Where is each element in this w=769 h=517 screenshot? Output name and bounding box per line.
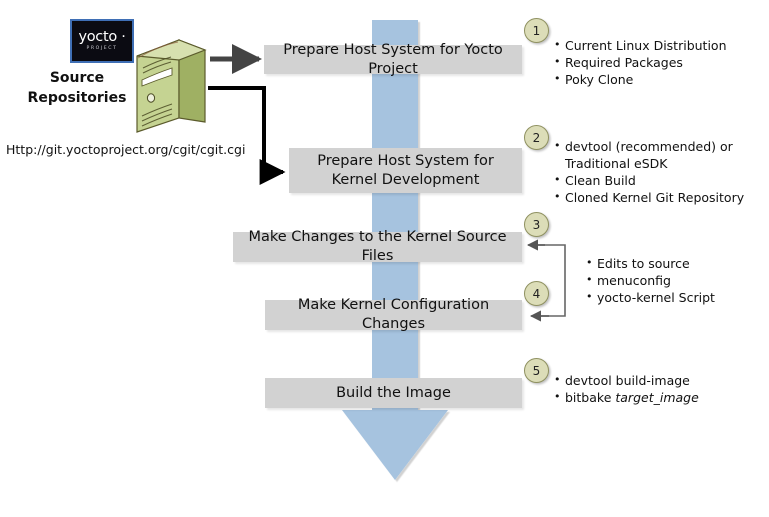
step-box-build-the-image[interactable]: Build the Image bbox=[265, 378, 522, 408]
bullet-item: devtool (recommended) or bbox=[553, 138, 763, 155]
source-repositories-label: Source Repositories bbox=[16, 68, 138, 108]
step-box-make-kernel-config-changes[interactable]: Make Kernel Configuration Changes bbox=[265, 300, 522, 330]
steps-3-4-bullet-list: Edits to source menuconfig yocto-kernel … bbox=[585, 255, 765, 306]
step-badge-3: 3 bbox=[524, 212, 549, 237]
step-badge-5: 5 bbox=[524, 358, 549, 383]
step-badge-2: 2 bbox=[524, 125, 549, 150]
diagram-canvas: yocto · PROJECT Source Repositories Http… bbox=[0, 0, 769, 517]
source-repositories-line2: Repositories bbox=[16, 88, 138, 108]
step-box-prepare-host-kernel[interactable]: Prepare Host System for Kernel Developme… bbox=[289, 148, 522, 193]
bullet-item: Cloned Kernel Git Repository bbox=[553, 189, 763, 206]
source-repositories-line1: Source bbox=[16, 68, 138, 88]
bullet-item-continuation: Traditional eSDK bbox=[553, 155, 763, 172]
yocto-project-logo: yocto · PROJECT bbox=[70, 19, 134, 63]
bullet-item: Current Linux Distribution bbox=[553, 37, 763, 54]
step-5-bullet-list: devtool build-image bitbake target_image bbox=[553, 372, 763, 406]
step-badge-1: 1 bbox=[524, 18, 549, 43]
bullet-item: Required Packages bbox=[553, 54, 763, 71]
bullet-item: Edits to source bbox=[585, 255, 765, 272]
step-badge-4: 4 bbox=[524, 281, 549, 306]
bullet-item: devtool build-image bbox=[553, 372, 763, 389]
step-box-prepare-host-yocto[interactable]: Prepare Host System for Yocto Project bbox=[264, 45, 522, 74]
bullet-item: bitbake target_image bbox=[553, 389, 763, 406]
step-2-bullet-list: devtool (recommended) or Traditional eSD… bbox=[553, 138, 763, 206]
step-1-bullet-list: Current Linux Distribution Required Pack… bbox=[553, 37, 763, 88]
logo-main-text: yocto · bbox=[78, 30, 125, 45]
bullet-item: Poky Clone bbox=[553, 71, 763, 88]
bullet-item: Clean Build bbox=[553, 172, 763, 189]
bullet-command: bitbake bbox=[565, 390, 615, 405]
bullet-item: menuconfig bbox=[585, 272, 765, 289]
repository-url: Http://git.yoctoproject.org/cgit/cgit.cg… bbox=[6, 142, 245, 157]
server-tower-icon bbox=[133, 30, 209, 136]
bullet-item: yocto-kernel Script bbox=[585, 289, 765, 306]
logo-sub-text: PROJECT bbox=[86, 47, 117, 52]
step-box-make-kernel-source-changes[interactable]: Make Changes to the Kernel Source Files bbox=[233, 232, 522, 262]
bullet-command-arg: target_image bbox=[615, 390, 698, 405]
